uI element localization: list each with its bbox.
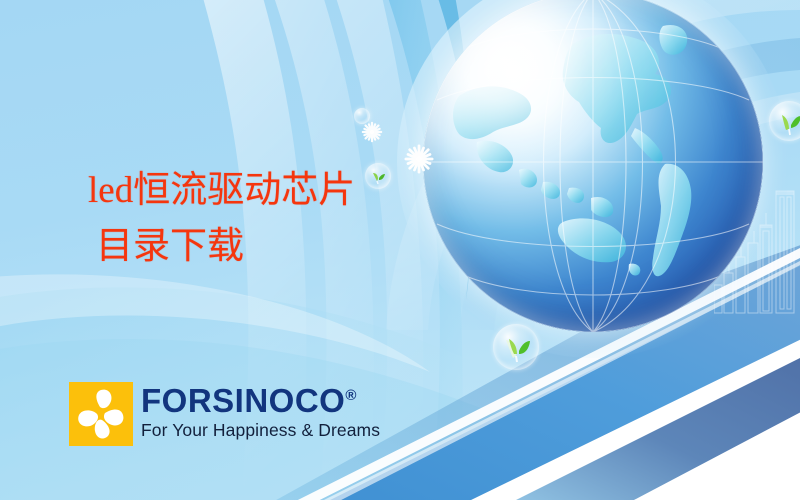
logo-company-name: FORSINOCO® [141, 384, 380, 418]
logo-tagline: For Your Happiness & Dreams [141, 420, 380, 440]
brand-logo: FORSINOCO® For Your Happiness & Dreams [69, 382, 380, 446]
globe-surface [423, 0, 763, 332]
headline: led恒流驱动芯片 目录下载 [88, 163, 418, 275]
headline-line-1: led恒流驱动芯片 [88, 163, 418, 219]
earth-globe-icon [423, 0, 763, 332]
sprout-icon [493, 324, 539, 370]
logo-company-word: FORSINOCO [141, 382, 345, 419]
starburst-icon [361, 121, 383, 143]
pinwheel-flower-icon [69, 382, 133, 446]
headline-line-2: 目录下载 [88, 219, 418, 275]
logo-text-block: FORSINOCO® For Your Happiness & Dreams [141, 382, 380, 440]
globe-sphere [423, 0, 763, 332]
pinwheel-petals [69, 382, 133, 446]
bubble-sprout-icon [354, 108, 370, 124]
registered-trademark-icon: ® [345, 387, 356, 404]
promo-banner: led恒流驱动芯片 目录下载 FORSINOCO® For Your Happi… [0, 0, 800, 500]
bubble-sprout-icon [493, 324, 539, 370]
sprout-icon [769, 101, 800, 141]
bubble-sprout-icon [769, 101, 800, 141]
